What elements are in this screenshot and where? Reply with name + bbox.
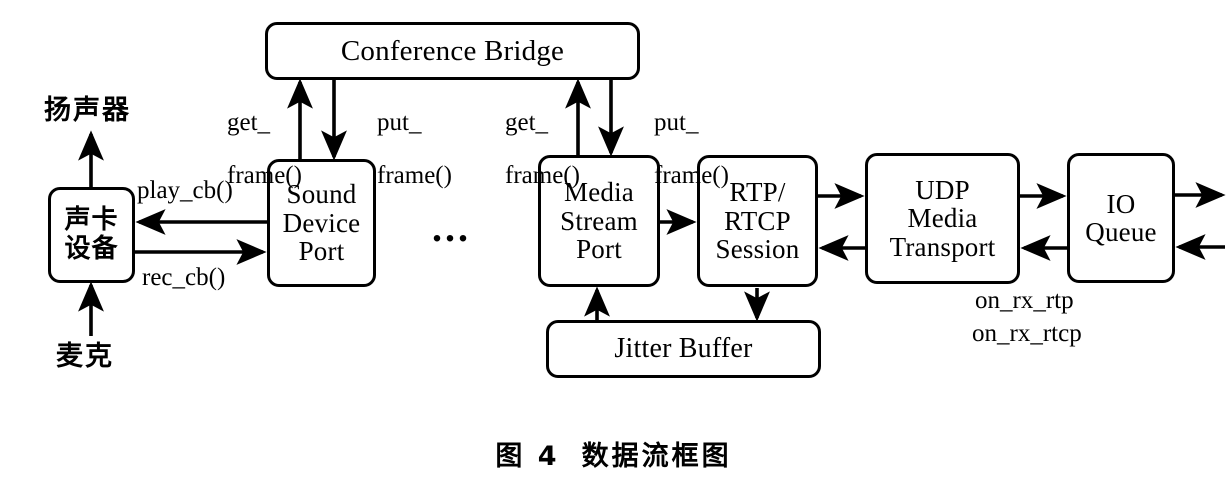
label-get-frame-left-line2: frame() [227, 162, 302, 189]
node-udp-media-transport-line1: UDP [915, 175, 970, 205]
node-udp-media-transport-line3: Transport [890, 232, 996, 262]
label-put-frame-right: put_ frame() [629, 84, 729, 215]
figure-caption-title: 数据流框图 [582, 441, 732, 472]
node-io-queue[interactable]: IO Queue [1067, 153, 1175, 283]
node-conference-bridge-label: Conference Bridge [268, 36, 637, 66]
node-udp-media-transport-label: UDP Media Transport [868, 176, 1017, 261]
node-io-queue-line1: IO [1107, 189, 1136, 219]
node-conference-bridge[interactable]: Conference Bridge [265, 22, 640, 80]
label-put-frame-right-line2: frame() [654, 162, 729, 189]
node-rtp-rtcp-session-line3: Session [716, 234, 800, 264]
node-rtp-rtcp-session-line1: RTP/ [729, 177, 785, 207]
node-udp-media-transport-line2: Media [908, 203, 978, 233]
label-get-frame-left-line1: get_ [227, 109, 270, 136]
label-put-frame-left-line1: put_ [377, 109, 421, 136]
node-io-queue-label: IO Queue [1070, 190, 1172, 247]
figure-caption: 图 4数据流框图 [0, 434, 1227, 473]
node-sound-card-device-line1: 声卡 [64, 205, 118, 235]
node-sound-device-port-line3: Port [299, 236, 345, 266]
label-on-rx-rtcp: on_rx_rtcp [972, 321, 1082, 347]
node-io-queue-line2: Queue [1085, 217, 1156, 247]
node-rtp-rtcp-session-line2: RTCP [724, 206, 791, 236]
label-play-cb: play_cb() [137, 178, 233, 204]
label-rec-cb: rec_cb() [142, 265, 225, 291]
label-on-rx-rtp: on_rx_rtp [975, 288, 1074, 314]
node-udp-media-transport[interactable]: UDP Media Transport [865, 153, 1020, 284]
node-jitter-buffer-label: Jitter Buffer [549, 334, 818, 363]
label-get-frame-right-line2: frame() [505, 162, 580, 189]
label-get-frame-right-line1: get_ [505, 109, 548, 136]
label-put-frame-left: put_ frame() [352, 84, 452, 215]
node-sound-card-device[interactable]: 声卡 设备 [48, 187, 135, 283]
node-sound-card-device-line2: 设备 [64, 234, 118, 264]
node-jitter-buffer[interactable]: Jitter Buffer [546, 320, 821, 378]
figure-canvas: Conference Bridge 声卡 设备 Sound Device Por… [0, 0, 1227, 485]
figure-caption-number: 图 4 [495, 441, 559, 472]
label-speaker: 扬声器 [44, 88, 131, 127]
node-media-stream-port-line3: Port [576, 234, 622, 264]
label-put-frame-left-line2: frame() [377, 162, 452, 189]
label-get-frame-right: get_ frame() [480, 84, 580, 215]
node-sound-card-device-label: 声卡 设备 [51, 206, 132, 264]
label-put-frame-right-line1: put_ [654, 109, 698, 136]
label-microphone: 麦克 [56, 334, 114, 373]
